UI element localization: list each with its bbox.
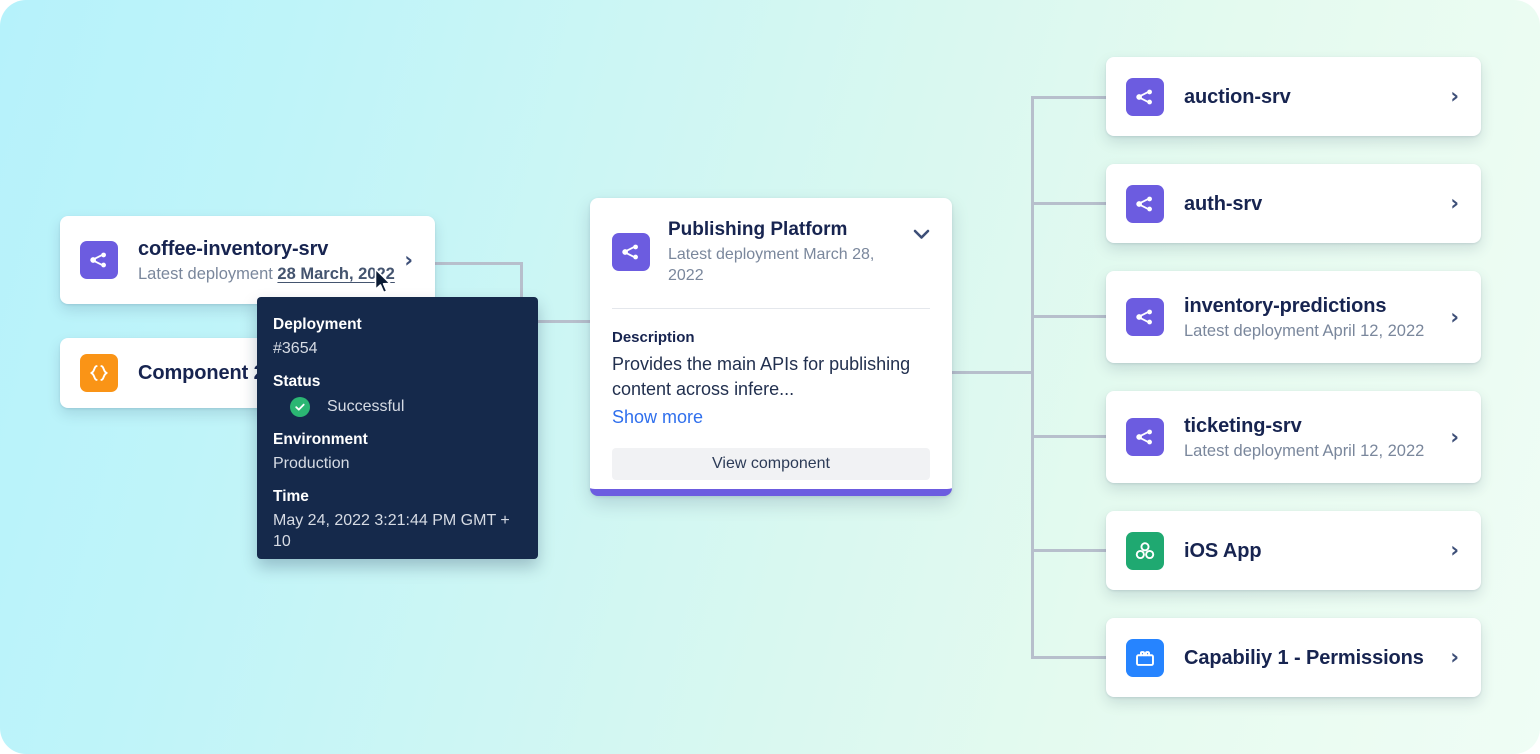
application-trefoil-icon xyxy=(1126,532,1164,570)
check-circle-icon xyxy=(290,397,310,417)
tooltip-status-label: Status xyxy=(273,372,518,392)
chevron-right-icon[interactable]: › xyxy=(1450,647,1459,668)
chevron-right-icon[interactable]: › xyxy=(1450,540,1459,561)
card-title: Capabiliy 1 - Permissions xyxy=(1184,645,1436,671)
divider xyxy=(612,308,930,309)
card-title: coffee-inventory-srv xyxy=(138,236,390,262)
card-subtitle: Latest deployment 28 March, 2022 xyxy=(138,263,390,285)
status-badge: Successful xyxy=(273,397,518,417)
service-branch-icon xyxy=(1126,298,1164,336)
tooltip-environment-label: Environment xyxy=(273,430,518,450)
tooltip-time-value: May 24, 2022 3:21:44 PM GMT + 10 xyxy=(273,510,518,552)
card-title: iOS App xyxy=(1184,538,1436,564)
mouse-cursor xyxy=(374,268,394,296)
card-ios-app[interactable]: iOS App › xyxy=(1106,511,1481,590)
card-auth-srv[interactable]: auth-srv › xyxy=(1106,164,1481,243)
tooltip-time-label: Time xyxy=(273,487,518,507)
tooltip-status-value: Successful xyxy=(327,398,404,416)
connector-branch-ticketing xyxy=(1031,435,1109,438)
service-branch-icon xyxy=(1126,78,1164,116)
code-braces-icon xyxy=(80,354,118,392)
chevron-down-icon[interactable] xyxy=(913,227,930,244)
connector-coffee-horizontal xyxy=(435,262,523,265)
service-branch-icon xyxy=(1126,418,1164,456)
chevron-right-icon[interactable]: › xyxy=(1450,427,1459,448)
service-branch-icon xyxy=(1126,185,1164,223)
card-subtitle: Latest deployment April 12, 2022 xyxy=(1184,320,1436,342)
card-title: inventory-predictions xyxy=(1184,293,1436,319)
component-dependency-map: coffee-inventory-srv Latest deployment 2… xyxy=(0,0,1540,754)
latest-deployment-text: Latest deployment March 28, 2022 xyxy=(668,244,913,286)
connector-main-trunk xyxy=(952,371,1034,374)
card-title: auth-srv xyxy=(1184,191,1436,217)
card-title: auction-srv xyxy=(1184,84,1436,110)
description-label: Description xyxy=(612,329,930,346)
chevron-right-icon[interactable]: › xyxy=(1450,307,1459,328)
card-auction-srv[interactable]: auction-srv › xyxy=(1106,57,1481,136)
connector-branch-ios xyxy=(1031,549,1109,552)
chevron-right-icon[interactable]: › xyxy=(1450,86,1459,107)
card-ticketing-srv[interactable]: ticketing-srv Latest deployment April 12… xyxy=(1106,391,1481,483)
connector-branch-inventory xyxy=(1031,315,1109,318)
card-title: ticketing-srv xyxy=(1184,413,1436,439)
deployment-tooltip: Deployment #3654 Status Successful Envir… xyxy=(257,297,538,559)
page-title: Publishing Platform xyxy=(668,218,913,242)
service-branch-icon xyxy=(612,233,650,271)
tooltip-environment-value: Production xyxy=(273,453,518,474)
card-capability-1-permissions[interactable]: Capabiliy 1 - Permissions › xyxy=(1106,618,1481,697)
chevron-right-icon[interactable]: › xyxy=(404,250,413,271)
show-more-link[interactable]: Show more xyxy=(612,405,703,430)
tooltip-deployment-label: Deployment xyxy=(273,315,518,335)
view-component-button[interactable]: View component xyxy=(612,448,930,480)
card-subtitle-prefix: Latest deployment xyxy=(138,265,277,283)
card-subtitle: Latest deployment April 12, 2022 xyxy=(1184,440,1436,462)
description-text: Provides the main APIs for publishing co… xyxy=(612,352,930,402)
connector-branch-auction xyxy=(1031,96,1109,99)
connector-branch-capability xyxy=(1031,656,1109,659)
connector-branch-auth xyxy=(1031,202,1109,205)
card-inventory-predictions[interactable]: inventory-predictions Latest deployment … xyxy=(1106,271,1481,363)
chevron-right-icon[interactable]: › xyxy=(1450,193,1459,214)
service-branch-icon xyxy=(80,241,118,279)
card-publishing-platform[interactable]: Publishing Platform Latest deployment Ma… xyxy=(590,198,952,496)
connector-spine-vertical xyxy=(1031,96,1034,659)
tooltip-deployment-value: #3654 xyxy=(273,338,518,359)
capability-toolbox-icon xyxy=(1126,639,1164,677)
